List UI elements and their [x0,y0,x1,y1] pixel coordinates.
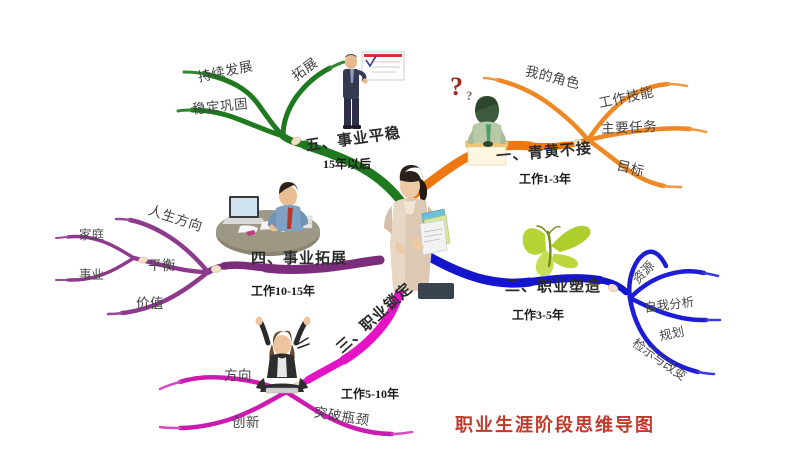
branch-duration-career-lock: 工作5-10年 [341,385,399,402]
branch-duration-career-expansion: 工作10-15年 [251,282,315,299]
green-butterfly-icon [523,226,591,277]
subnode-family[interactable]: 家庭 [79,224,104,243]
branch-duration-green-yellow-gap: 工作1-3年 [519,170,571,187]
page-title: 职业生涯阶段思维导图 [455,411,655,437]
subnode-innovation[interactable]: 创新 [232,411,260,431]
subnode-main-tasks[interactable]: 主要任务 [601,115,658,137]
career-stage-central-image [384,165,454,299]
subnode-direction[interactable]: 方向 [224,364,252,384]
branch-duration-career-stable: 15年以后 [323,155,371,172]
svg-text:?: ? [450,72,463,101]
branch-blue-career-shaping[interactable] [424,252,720,374]
branch-label-career-shaping[interactable]: 二、职业塑造 [505,275,601,296]
subnode-value[interactable]: 价值 [136,292,164,312]
svg-text:?: ? [466,88,473,103]
subnode-balance[interactable]: 平衡 [148,254,176,274]
mindmap-canvas: ? ? [0,0,800,466]
man-at-desk-laptop-icon [216,182,320,256]
mindmap-branches-svg: ? ? [0,0,800,466]
branch-label-career-expansion[interactable]: 四、事业拓展 [251,247,347,268]
branch-duration-career-shaping: 工作3-5年 [512,306,564,323]
businessman-presenting-icon [343,52,404,129]
subnode-career[interactable]: 事业 [79,264,104,283]
celebrating-woman-laptop-icon [256,317,311,394]
